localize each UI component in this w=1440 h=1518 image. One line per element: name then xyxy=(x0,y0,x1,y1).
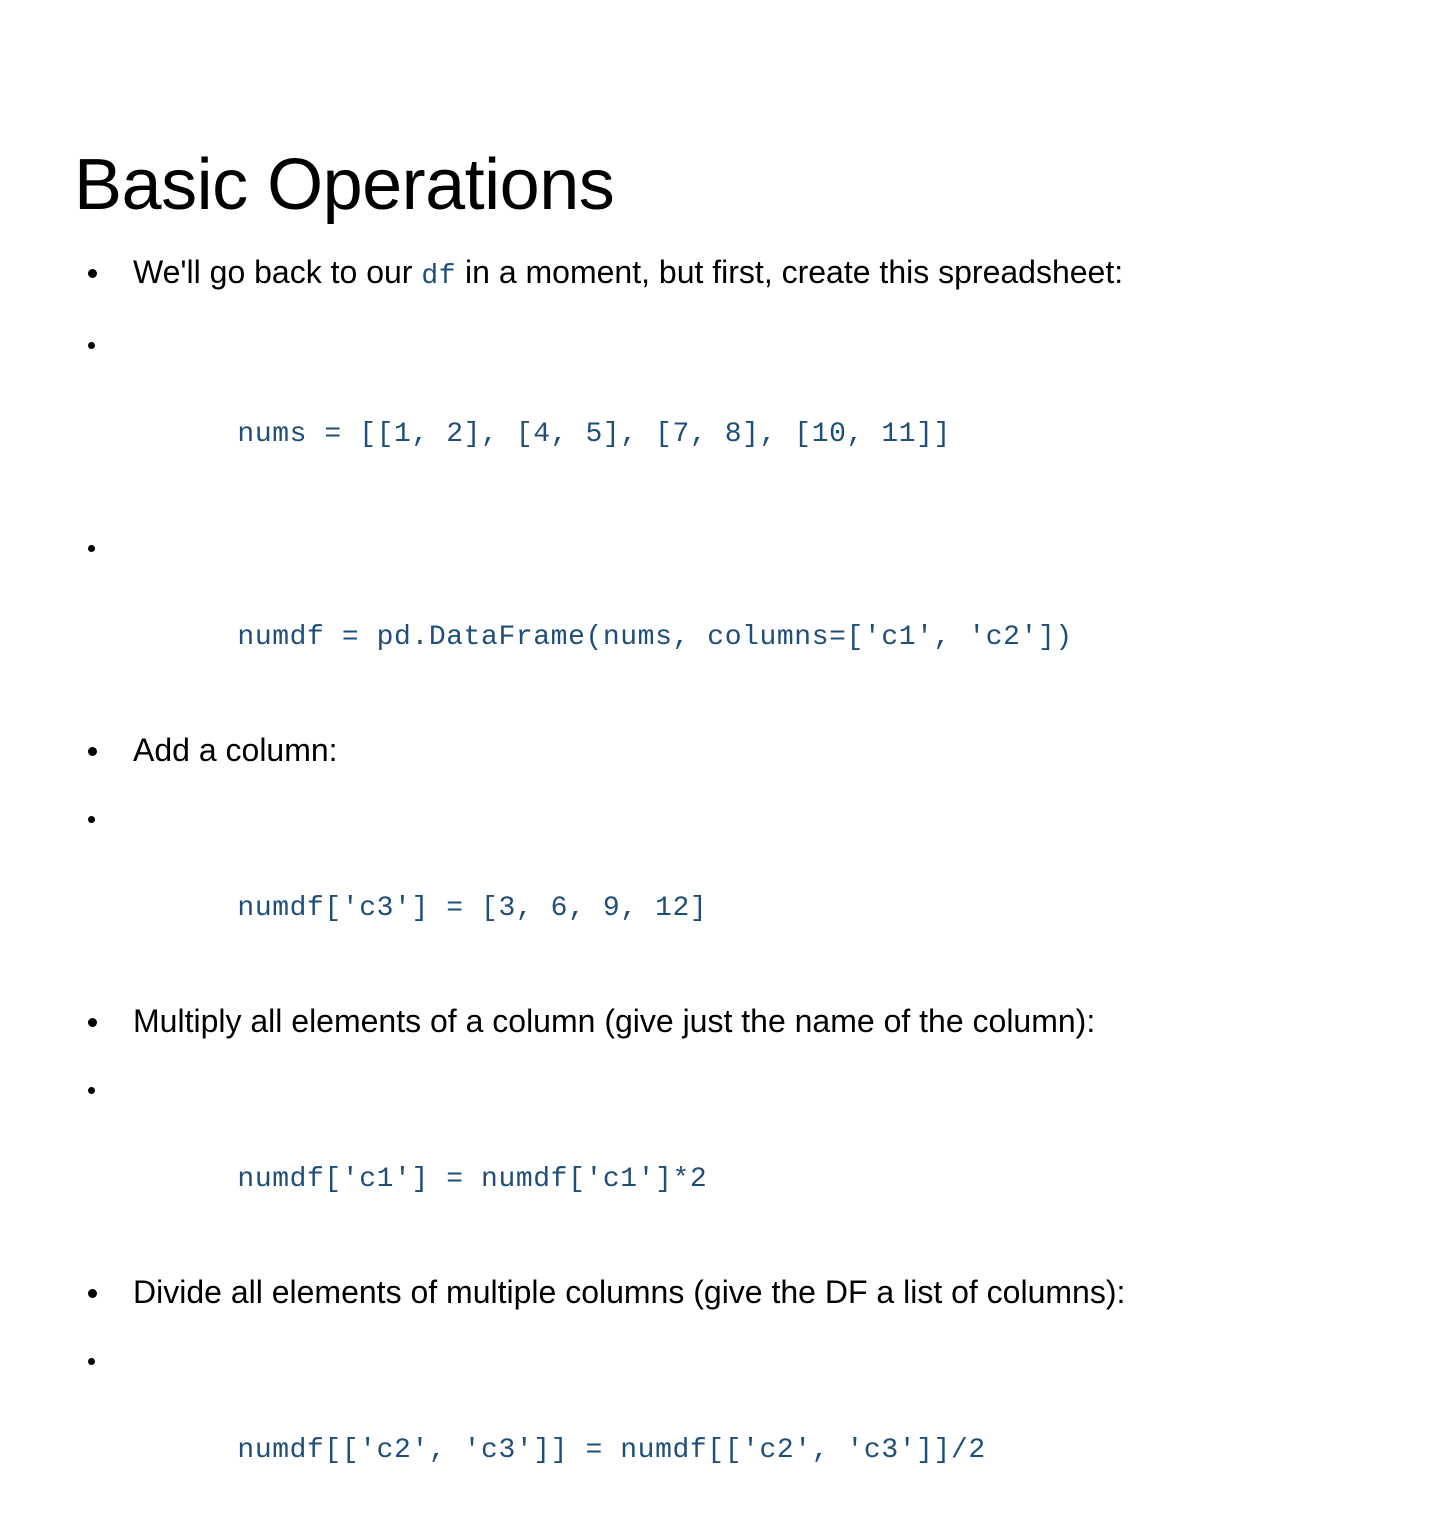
list-item-code: numdf['c3'] = [3, 6, 9, 12] xyxy=(74,796,1394,976)
code-line: numdf['c3'] = [3, 6, 9, 12] xyxy=(237,893,707,924)
list-item-text: Multiply all elements of a column (give … xyxy=(133,1003,1095,1039)
code-line: numdf = pd.DataFrame(nums, columns=['c1'… xyxy=(237,622,1072,653)
bullet-marker-icon xyxy=(88,1289,97,1298)
bullet-marker-icon xyxy=(88,816,95,823)
list-item-code: numdf['c1'] = numdf['c1']*2 xyxy=(74,1067,1394,1247)
page-title: Basic Operations xyxy=(74,144,614,226)
inline-code-df: df xyxy=(421,261,456,292)
bullet-marker-icon xyxy=(88,1018,97,1027)
list-item: Multiply all elements of a column (give … xyxy=(74,999,1394,1044)
list-item-text: Add a column: xyxy=(133,732,338,768)
bullet-marker-icon xyxy=(88,1087,95,1094)
bullet-marker-icon xyxy=(88,747,97,756)
list-item-text-prefix: We'll go back to our xyxy=(133,254,421,290)
code-line: numdf[['c2', 'c3']] = numdf[['c2', 'c3']… xyxy=(237,1435,985,1466)
list-item-text-suffix: in a moment, but first, create this spre… xyxy=(456,254,1123,290)
code-line: nums = [[1, 2], [4, 5], [7, 8], [10, 11]… xyxy=(237,419,951,450)
bullet-marker-icon xyxy=(88,1358,95,1365)
list-item-code: numdf[['c2', 'c3']] = numdf[['c2', 'c3']… xyxy=(74,1338,1394,1518)
list-item: We'll go back to our df in a moment, but… xyxy=(74,250,1394,299)
list-item: Add a column: xyxy=(74,728,1394,773)
list-item: Divide all elements of multiple columns … xyxy=(74,1270,1263,1315)
bullet-marker-icon xyxy=(88,545,95,552)
slide: Basic Operations We'll go back to our df… xyxy=(0,0,1440,1080)
bullet-marker-icon xyxy=(88,342,95,349)
bullet-marker-icon xyxy=(88,269,97,278)
code-line: numdf['c1'] = numdf['c1']*2 xyxy=(237,1164,707,1195)
list-item-code: numdf = pd.DataFrame(nums, columns=['c1'… xyxy=(74,525,1394,705)
list-item-code: nums = [[1, 2], [4, 5], [7, 8], [10, 11]… xyxy=(74,322,1394,502)
list-item-text: Divide all elements of multiple columns … xyxy=(133,1270,1263,1315)
bullet-list: We'll go back to our df in a moment, but… xyxy=(74,250,1394,1518)
